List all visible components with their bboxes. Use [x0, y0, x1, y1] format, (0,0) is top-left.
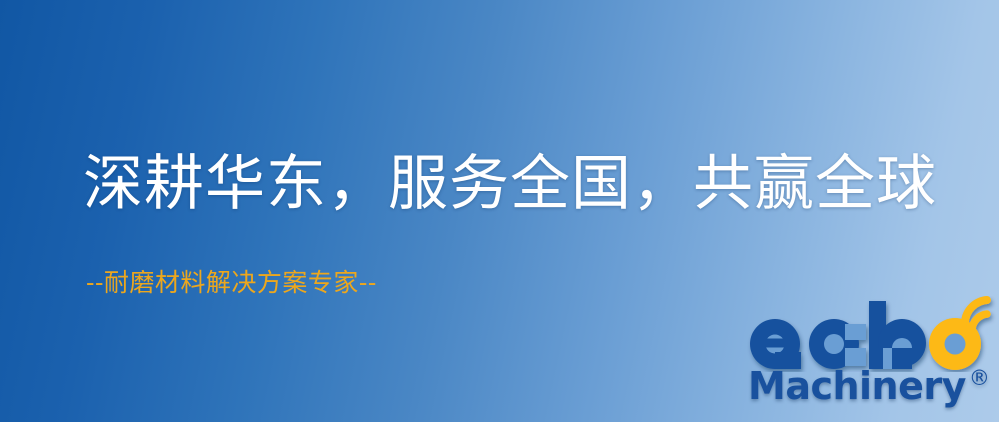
- logo-letter-h: [869, 301, 926, 369]
- banner-headline: 深耕华东，服务全国，共赢全球: [83, 150, 937, 219]
- logo-letter-e: [750, 319, 801, 369]
- registered-trademark-icon: ®: [969, 366, 990, 390]
- hero-banner: 深耕华东，服务全国，共赢全球 --耐磨材料解决方案专家--: [0, 0, 999, 422]
- logo-subword-text: Machinery: [748, 364, 966, 408]
- echo-machinery-logo: Machinery®: [742, 296, 999, 422]
- echo-wordmark-icon: [742, 296, 999, 372]
- banner-subtitle: --耐磨材料解决方案专家--: [86, 268, 377, 298]
- logo-subword: Machinery®: [748, 364, 989, 408]
- logo-letter-c: [809, 319, 866, 369]
